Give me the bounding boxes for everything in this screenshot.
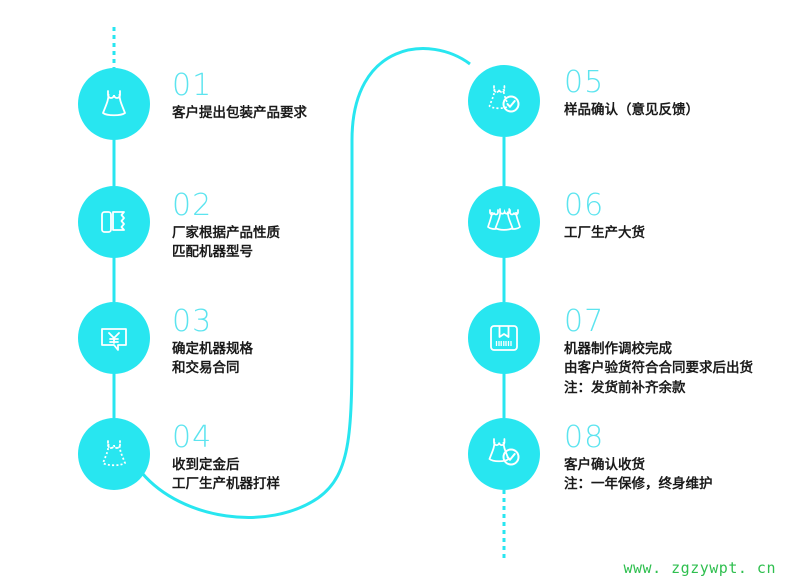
step-desc-04: 收到定金后 工厂生产机器打样 [172,455,280,494]
connector-arc-top [352,49,470,140]
step-number-04: 04 [172,422,280,454]
step-desc-02: 厂家根据产品性质 匹配机器型号 [172,223,280,262]
step-desc-07: 机器制作调校完成 由客户验货符合合同要求后出货 注：发货前补齐余款 [564,339,753,398]
step-text-08: 08 客户确认收货 注：一年保修，终身维护 [564,422,713,494]
step-number-03: 03 [172,306,253,338]
step-node-02[interactable] [78,186,150,258]
dress-icon [94,84,134,124]
step-node-07[interactable] [468,302,540,374]
step-number-08: 08 [564,422,713,454]
step-node-06[interactable] [468,186,540,258]
step-desc-05: 样品确认（意见反馈） [564,100,699,120]
step-desc-01: 客户提出包装产品要求 [172,103,307,123]
sealing-machine-icon [94,202,134,242]
flowchart-diagram: 01 客户提出包装产品要求 02 厂家根据产品性质 匹配机器型号 03 确定机器… [0,0,790,587]
multi-dress-icon [483,201,525,243]
step-text-04: 04 收到定金后 工厂生产机器打样 [172,422,280,494]
step-number-01: 01 [172,70,307,102]
step-text-07: 07 机器制作调校完成 由客户验货符合合同要求后出货 注：发货前补齐余款 [564,306,753,397]
step-desc-08: 客户确认收货 注：一年保修，终身维护 [564,455,713,494]
package-box-icon [484,318,524,358]
step-number-02: 02 [172,190,280,222]
step-number-05: 05 [564,67,699,99]
dress-check-dashed-icon [483,80,525,122]
dress-check-icon [483,433,525,475]
watermark: www. zgzywpt. cn [624,559,777,577]
step-node-08[interactable] [468,418,540,490]
step-node-05[interactable] [468,65,540,137]
step-desc-06: 工厂生产大货 [564,223,645,243]
yen-speech-bubble-icon [94,318,134,358]
step-node-03[interactable] [78,302,150,374]
step-text-05: 05 样品确认（意见反馈） [564,67,699,119]
step-number-07: 07 [564,306,753,338]
step-text-06: 06 工厂生产大货 [564,190,645,242]
step-text-02: 02 厂家根据产品性质 匹配机器型号 [172,190,280,262]
step-node-01[interactable] [78,68,150,140]
step-desc-03: 确定机器规格 和交易合同 [172,339,253,378]
step-node-04[interactable] [78,418,150,490]
dashed-dress-icon [94,434,134,474]
step-text-03: 03 确定机器规格 和交易合同 [172,306,253,378]
step-number-06: 06 [564,190,645,222]
step-text-01: 01 客户提出包装产品要求 [172,70,307,122]
